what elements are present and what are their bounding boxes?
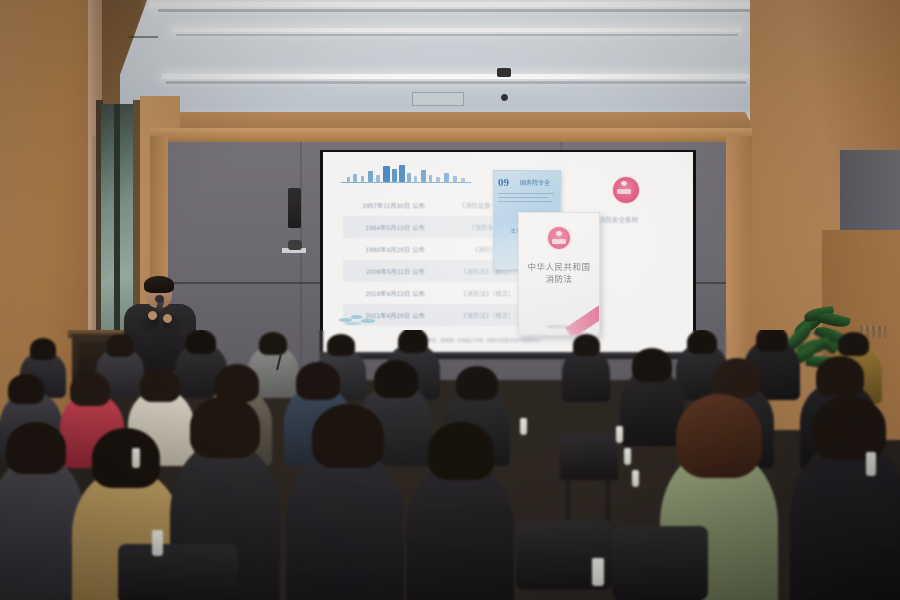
conference-room-photo: 1957年11月30日 公布 《消防监督十五条》 1984年5月13日 公布 《…	[0, 0, 900, 600]
water-bottle	[616, 426, 623, 443]
audience-hair	[296, 362, 340, 400]
chair	[612, 526, 708, 600]
smoke-detector-icon	[501, 94, 508, 101]
wall-camera-icon	[288, 240, 302, 250]
ceiling-speaker	[497, 68, 511, 77]
audience-hair	[6, 422, 66, 474]
audience-hair	[92, 428, 160, 488]
chair-leg	[606, 478, 610, 524]
audience-hair	[714, 358, 760, 398]
audience-hair	[687, 330, 717, 354]
audience-hair	[8, 374, 44, 404]
audience-hair	[186, 330, 216, 354]
prc-national-emblem-icon	[613, 177, 639, 203]
timeline-date: 2008年5月11日 公布	[343, 267, 425, 276]
audience-hair	[374, 360, 418, 398]
law-book-title: 中华人民共和国 消防法	[519, 261, 599, 285]
booklet-title: 国务院令全	[520, 178, 550, 187]
audience-area	[0, 330, 900, 600]
water-bottle	[132, 448, 140, 468]
audience-hair	[398, 330, 428, 353]
booklet-number: 09	[498, 177, 509, 189]
audience-hair	[838, 332, 869, 356]
chair	[560, 434, 618, 480]
audience-hair	[30, 338, 56, 360]
back-wall-top-trim	[150, 128, 752, 142]
audience-person	[286, 450, 404, 600]
ceiling-seam	[158, 9, 754, 12]
presenter-hand-left	[148, 311, 157, 320]
audience-hair	[816, 356, 864, 396]
ceiling-air-vent	[412, 92, 464, 106]
chair	[118, 544, 238, 600]
ceiling-light-strip	[150, 2, 760, 7]
audience-hair	[327, 334, 355, 356]
audience-hair	[312, 404, 384, 468]
water-bottle	[520, 418, 527, 435]
right-emblem-label: 消防安全条例	[599, 214, 638, 224]
audience-hair	[812, 396, 886, 460]
microphone-head	[155, 295, 164, 303]
law-book-title-line2: 消防法	[519, 273, 599, 285]
water-bottle	[632, 470, 639, 487]
audience-hair	[756, 330, 788, 352]
audience-person	[562, 348, 610, 402]
water-bottle	[152, 530, 163, 556]
presenter-hair	[144, 276, 174, 293]
water-bottle	[624, 448, 631, 465]
prc-national-emblem-icon	[548, 227, 570, 249]
wall-speaker	[288, 188, 301, 228]
timeline-date: 1984年5月13日 公布	[343, 223, 425, 232]
audience-hair	[190, 396, 260, 458]
law-book-title-line1: 中华人民共和国	[519, 261, 599, 273]
audience-hair	[106, 334, 134, 357]
timeline-date: 1998年4月29日 公布	[343, 245, 425, 254]
blue-wave-decoration	[337, 312, 381, 328]
water-bottle	[866, 452, 876, 476]
presenter-hand-right	[163, 314, 172, 323]
audience-hair-long	[676, 394, 762, 478]
audience-hair	[573, 334, 600, 356]
audience-hair	[140, 368, 180, 402]
timeline-date: 1957年11月30日 公布	[343, 201, 425, 210]
audience-hair	[456, 366, 498, 400]
audience-person	[790, 442, 900, 600]
audience-person	[406, 462, 514, 600]
audience-hair	[632, 348, 672, 382]
timeline-date: 2019年4月23日 公布	[343, 289, 425, 298]
audience-hair	[428, 422, 494, 480]
ceiling-seam	[176, 34, 738, 36]
law-book-cover: 中华人民共和国 消防法 中国法制出版社	[518, 212, 600, 336]
audience-hair-ponytail	[70, 372, 110, 406]
ceiling-trim	[128, 36, 158, 38]
skyline-graphic	[341, 164, 471, 186]
projection-screen: 1957年11月30日 公布 《消防监督十五条》 1984年5月13日 公布 《…	[323, 152, 693, 352]
ceiling-light-strip	[162, 74, 750, 79]
ceiling-seam	[166, 81, 746, 84]
audience-hair	[259, 332, 287, 355]
water-bottle	[592, 558, 604, 586]
ceiling-light-strip	[172, 28, 742, 32]
